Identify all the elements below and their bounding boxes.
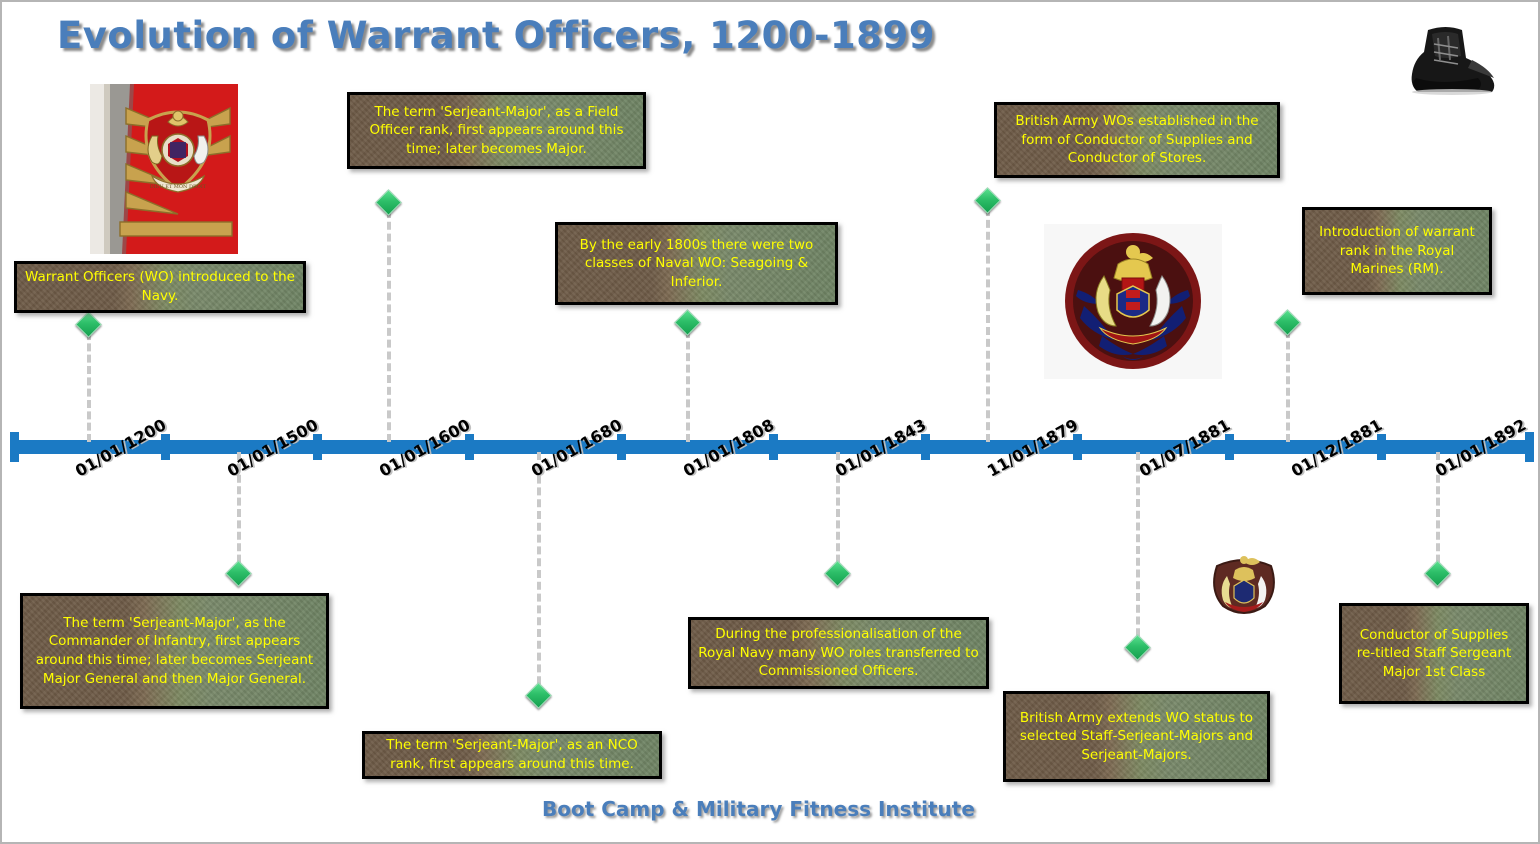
axis-tick (313, 434, 322, 460)
event-marker[interactable] (375, 189, 402, 216)
event-caption-1680[interactable]: The term 'Serjeant-Major', as an NCO ran… (362, 731, 662, 779)
event-marker[interactable] (525, 682, 552, 709)
event-marker[interactable] (674, 309, 701, 336)
event-caption-1879[interactable]: British Army WOs established in the form… (994, 102, 1280, 178)
combat-boot-photo (1394, 20, 1516, 96)
connector-line (537, 452, 541, 696)
event-marker[interactable] (75, 311, 102, 338)
connector-line (986, 208, 990, 442)
event-caption-1500[interactable]: The term 'Serjeant-Major', as the Comman… (20, 593, 329, 709)
timeline-infographic: Evolution of Warrant Officers, 1200-1899 (0, 0, 1540, 844)
page-title: Evolution of Warrant Officers, 1200-1899 (57, 14, 935, 57)
connector-line (1136, 452, 1140, 648)
warrant-officer-sleeve-badge-photo: DIEU ET MON DROIT (90, 84, 238, 254)
axis-tick (1377, 434, 1386, 460)
timeline-axis-start-cap (10, 432, 19, 462)
event-marker[interactable] (1424, 560, 1451, 587)
event-caption-1892[interactable]: Conductor of Supplies re-titled Staff Se… (1339, 603, 1529, 704)
connector-line (686, 330, 690, 442)
axis-tick (617, 434, 626, 460)
event-marker[interactable] (974, 187, 1001, 214)
axis-tick (161, 434, 170, 460)
royal-arms-circular-patch (1044, 224, 1222, 379)
event-caption-1881-07[interactable]: British Army extends WO status to select… (1003, 691, 1270, 782)
axis-tick (921, 434, 930, 460)
event-caption-1200[interactable]: Warrant Officers (WO) introduced to the … (14, 261, 306, 313)
connector-line (387, 210, 391, 442)
event-marker[interactable] (1274, 309, 1301, 336)
event-caption-1808[interactable]: By the early 1800s there were two classe… (555, 222, 838, 305)
event-marker[interactable] (824, 560, 851, 587)
connector-line (1286, 330, 1290, 442)
footer-credit: Boot Camp & Military Fitness Institute (542, 797, 975, 821)
timeline-axis-end-cap (1525, 432, 1534, 462)
royal-arms-small-badge (1205, 550, 1283, 622)
axis-tick (1225, 434, 1234, 460)
axis-tick (769, 434, 778, 460)
svg-text:DIEU ET MON DROIT: DIEU ET MON DROIT (150, 184, 207, 190)
connector-line (87, 332, 91, 442)
axis-tick (1073, 434, 1082, 460)
event-caption-1600[interactable]: The term 'Serjeant-Major', as a Field Of… (347, 92, 646, 169)
event-caption-1881-12[interactable]: Introduction of warrant rank in the Roya… (1302, 207, 1492, 295)
axis-tick (465, 434, 474, 460)
event-caption-1843[interactable]: During the professionalisation of the Ro… (688, 617, 989, 689)
event-marker[interactable] (1124, 634, 1151, 661)
event-marker[interactable] (225, 560, 252, 587)
